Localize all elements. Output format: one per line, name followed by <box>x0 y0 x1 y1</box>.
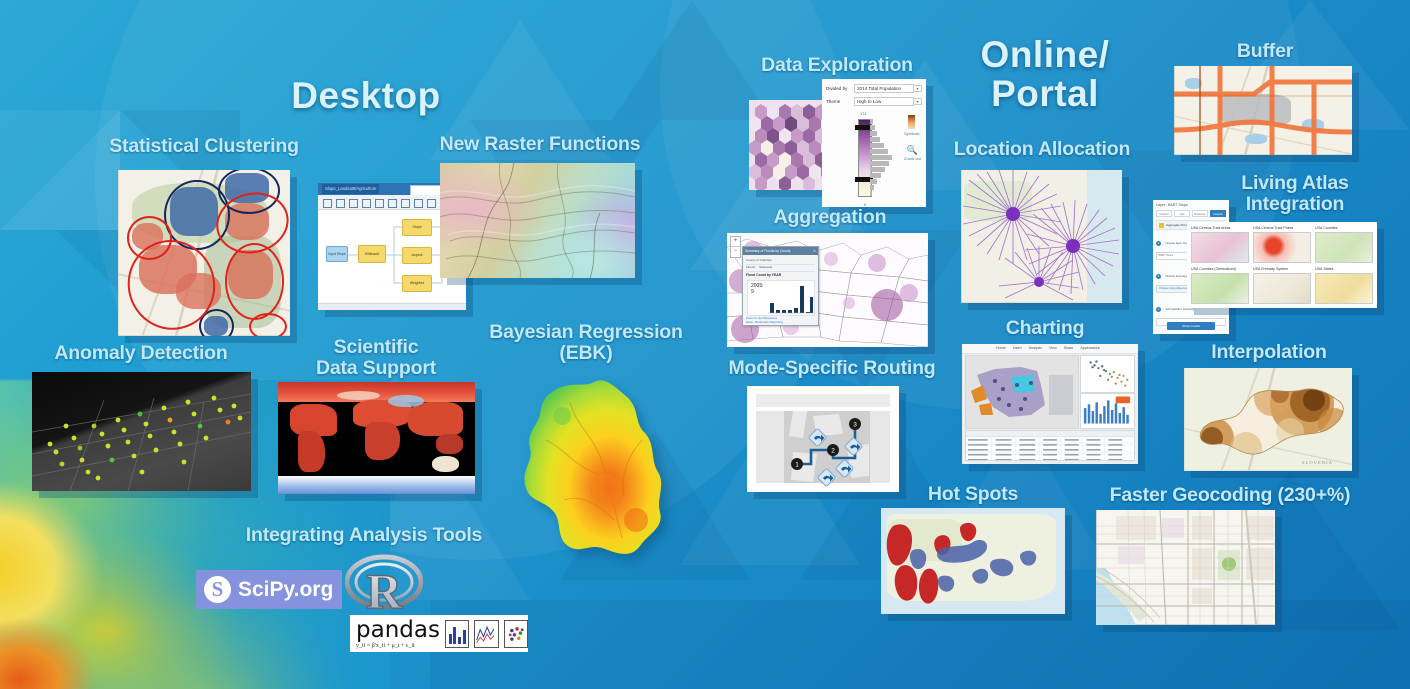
section-title-desktop: Desktop <box>236 76 496 116</box>
charting-menu-item[interactable]: Insert <box>1013 346 1022 350</box>
label-faster-geocoding: Faster Geocoding (230+%) <box>1085 485 1375 506</box>
thumb-statistical-clustering[interactable] <box>118 170 290 336</box>
pandas-icon-line-chart <box>474 620 498 648</box>
living-atlas-tile-label: USA Counties <box>1315 226 1373 230</box>
label-mode-specific-routing: Mode-Specific Routing <box>712 358 952 379</box>
living-atlas-tile[interactable]: USA Census Tract Points <box>1253 226 1311 263</box>
living-atlas-group-title: Aggregate Points <box>1166 223 1189 227</box>
la-tab-analysis[interactable]: Analysis <box>1210 210 1226 217</box>
scipy-logo-text: SciPy.org <box>238 578 333 602</box>
living-atlas-tile[interactable]: USA Counties (Generalized) <box>1191 267 1249 304</box>
aggregation-popup-title: Summary of Floods by County <box>745 249 791 253</box>
tool-zoom-out[interactable]: 🔍 Zoom out <box>904 145 921 161</box>
slide-canvas: Desktop Statistical Clustering <box>0 0 1410 689</box>
panel-living-atlas-gallery[interactable]: USA Census Tract Areas USA Census Tract … <box>1187 222 1377 308</box>
raster-model-tab[interactable]: Slope_Landsat8/Agriculture <box>322 184 379 194</box>
background-triangle-1 <box>0 110 120 230</box>
step-badge: 2 <box>1156 274 1161 279</box>
charting-menu-item[interactable]: Share <box>1064 346 1074 350</box>
la-tab[interactable]: Basemap <box>1192 210 1208 217</box>
chevron-down-icon-divided-by[interactable]: ▾ <box>914 85 922 92</box>
aggregation-popup-chart: 2005: 9 <box>747 280 815 316</box>
charting-menu-item[interactable]: Appearance <box>1080 346 1099 350</box>
step-badge: 3 <box>1156 307 1161 312</box>
thumb-faster-geocoding[interactable] <box>1096 510 1275 625</box>
pandas-logo[interactable]: pandas y_it = β'x_it + μ_i + ε_it <box>350 615 528 652</box>
thumb-new-raster-functions[interactable] <box>440 163 635 278</box>
thumb-hot-spots[interactable] <box>881 508 1065 614</box>
label-statistical-clustering: Statistical Clustering <box>68 136 340 157</box>
charting-menu-item[interactable]: Analysis <box>1029 346 1042 350</box>
tool-symbols[interactable]: Symbols <box>904 115 919 136</box>
living-atlas-tile-label: USA Census Tract Areas <box>1191 226 1249 230</box>
charting-menu-item[interactable]: Home <box>996 346 1006 350</box>
tool-zoom-out-label: Zoom out <box>904 156 921 161</box>
svg-text:1: 1 <box>795 462 799 469</box>
zoom-out-icon: 🔍 <box>904 145 921 155</box>
pandas-icon-bar-chart <box>445 620 469 648</box>
label-aggregation: Aggregation <box>720 207 940 228</box>
label-interpolation: Interpolation <box>1178 342 1360 363</box>
living-atlas-tile[interactable]: USA Census Tract Areas <box>1191 226 1249 263</box>
living-atlas-tile[interactable]: USA Freeway System <box>1253 267 1311 304</box>
aggregation-popup-link-1[interactable]: More : Bookmark Reporting <box>746 320 783 324</box>
charting-attribute-table[interactable] <box>965 430 1135 461</box>
living-atlas-header: Layer : BART Stops <box>1156 203 1188 207</box>
label-new-raster-functions: New Raster Functions <box>404 134 676 155</box>
living-atlas-tile-label: USA Census Tract Points <box>1253 226 1311 230</box>
scipy-logo[interactable]: S SciPy.org <box>196 570 342 609</box>
aggregate-points-icon <box>1159 223 1164 228</box>
chevron-down-icon-theme[interactable]: ▾ <box>914 98 922 105</box>
pandas-icon-scatter-3d <box>504 620 528 648</box>
thumb-aggregation[interactable]: + − Summary of Floods by County ✕ County… <box>727 233 928 347</box>
interpolation-map-label: SLOVENIA <box>1302 460 1333 465</box>
label-bayesian-regression: Bayesian Regression (EBK) <box>470 322 702 364</box>
label-scientific-data-support: Scientific Data Support <box>286 337 466 379</box>
r-logo-letter: R <box>366 563 403 619</box>
living-atlas-tile[interactable]: USA States <box>1315 267 1373 304</box>
data-exploration-row-0-label: Divided by <box>826 86 854 91</box>
living-atlas-tile-label: USA Counties (Generalized) <box>1191 267 1249 271</box>
aggregation-popup-chart-title: Flood Count by YEAR <box>746 273 781 277</box>
living-atlas-tile[interactable]: USA Counties <box>1315 226 1373 263</box>
data-exploration-histogram: 171 0 <box>848 113 896 201</box>
label-charting: Charting <box>950 318 1140 339</box>
label-buffer: Buffer <box>1185 41 1345 62</box>
label-data-exploration: Data Exploration <box>726 55 948 76</box>
step-badge: 1 <box>1156 241 1161 246</box>
data-exploration-row-0-value[interactable]: 2014 Total Population <box>854 84 914 93</box>
thumb-scientific-data-support[interactable] <box>278 382 475 494</box>
background-shape-4 <box>0 110 120 230</box>
close-icon[interactable]: ✕ <box>813 249 816 253</box>
scipy-mark-icon: S <box>204 576 231 603</box>
thumb-interpolation[interactable]: SLOVENIA <box>1184 368 1352 471</box>
thumb-mode-specific-routing[interactable]: 1 2 3 <box>747 386 899 492</box>
tool-symbols-label: Symbols <box>904 131 919 136</box>
label-integrating-analysis-tools: Integrating Analysis Tools <box>244 525 484 546</box>
living-atlas-show-credits-button[interactable]: Show Credits <box>1167 322 1215 330</box>
data-exploration-row-1-value[interactable]: High to Low <box>854 97 914 106</box>
aggregation-zoom-control[interactable]: + − <box>730 236 741 258</box>
data-exploration-row-1-label: Theme <box>826 99 854 104</box>
section-title-online: Online/ Portal <box>940 36 1150 114</box>
panel-data-exploration[interactable]: Divided by 2014 Total Population ▾ Theme… <box>822 79 926 207</box>
aggregation-popup[interactable]: Summary of Floods by County ✕ County of … <box>742 246 819 326</box>
charting-menu-item[interactable]: View <box>1049 346 1057 350</box>
thumb-charting[interactable]: Home Insert Analysis View Share Appearan… <box>962 344 1138 464</box>
svg-text:2: 2 <box>831 448 835 455</box>
label-hot-spots: Hot Spots <box>895 484 1051 505</box>
label-location-allocation: Location Allocation <box>922 139 1162 160</box>
la-tab[interactable]: Add <box>1174 210 1190 217</box>
thumb-buffer[interactable] <box>1174 66 1352 155</box>
living-atlas-tile-label: USA Freeway System <box>1253 267 1311 271</box>
symbols-icon <box>908 115 915 129</box>
histogram-max-label: 171 <box>860 111 867 116</box>
r-logo[interactable]: R <box>345 552 423 624</box>
pandas-logo-formula: y_it = β'x_it + μ_i + ε_it <box>356 643 440 649</box>
la-tab[interactable]: Content <box>1156 210 1172 217</box>
pandas-logo-text: pandas <box>356 619 440 642</box>
thumb-anomaly-detection[interactable] <box>32 372 251 491</box>
thumb-bayesian-regression[interactable] <box>510 370 700 560</box>
thumb-location-allocation[interactable] <box>961 170 1122 303</box>
label-anomaly-detection: Anomaly Detection <box>22 343 260 364</box>
svg-text:3: 3 <box>853 422 857 429</box>
living-atlas-tile-label: USA States <box>1315 267 1373 271</box>
